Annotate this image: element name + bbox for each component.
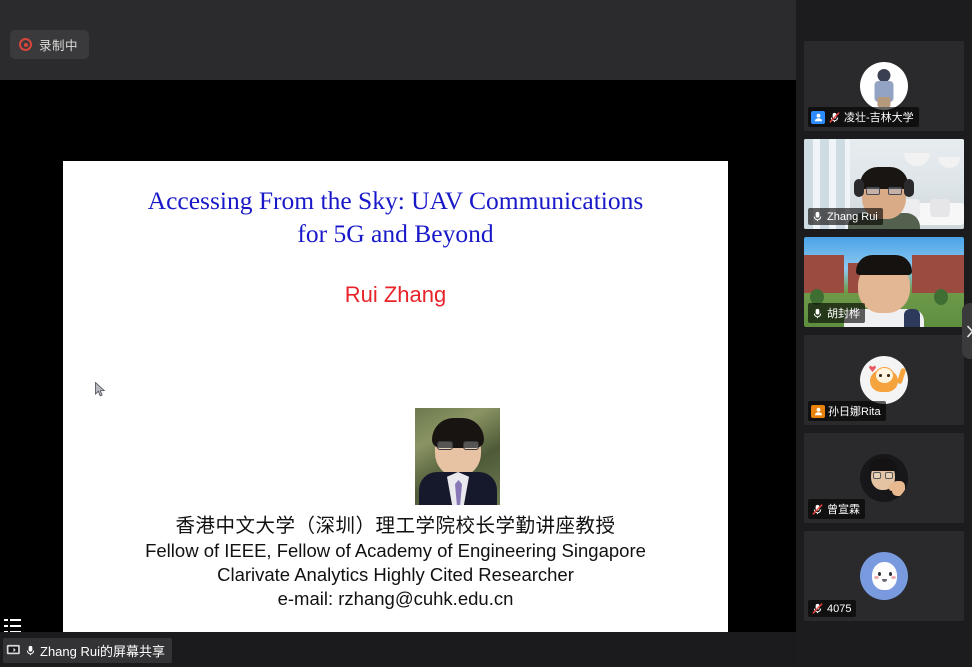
memoji-thumbsup-avatar (860, 454, 908, 502)
screen-share-indicator[interactable]: Zhang Rui的屏幕共享 (3, 638, 172, 663)
participant-filmstrip: 凌壮-吉林大学 Zhang Rui (796, 0, 972, 667)
participant-nameplate: Zhang Rui (808, 208, 883, 225)
participant-tile-1[interactable]: 凌壮-吉林大学 (804, 41, 964, 131)
bottom-status-bar: Zhang Rui的屏幕共享 (0, 632, 796, 667)
participant-tile-6[interactable]: 4075 (804, 531, 964, 621)
participant-name: 4075 (827, 603, 851, 615)
collapse-filmstrip-button[interactable] (962, 303, 972, 359)
participant-nameplate: 曾宣霖 (808, 499, 865, 519)
mic-on-icon (811, 307, 824, 320)
speaker-email: e-mail: rzhang@cuhk.edu.cn (63, 588, 728, 610)
screen-share-label: Zhang Rui的屏幕共享 (40, 641, 165, 660)
mouse-cursor (95, 382, 106, 397)
presentation-slide: Accessing From the Sky: UAV Communicatio… (63, 161, 728, 660)
participant-tile-5[interactable]: 曾宣霖 (804, 433, 964, 523)
participant-tile-2[interactable]: Zhang Rui (804, 139, 964, 229)
affiliation-chinese: 香港中文大学（深圳）理工学院校长学勤讲座教授 (63, 509, 728, 538)
slide-speaker-name: Rui Zhang (63, 282, 728, 308)
mic-on-icon (24, 644, 37, 657)
host-person-icon (811, 111, 825, 124)
person-illustration-avatar (860, 62, 908, 110)
mic-muted-icon (811, 503, 824, 516)
screen-share-icon (6, 644, 21, 657)
slide-title-line-1: Accessing From the Sky: UAV Communicatio… (148, 186, 644, 215)
chevron-right-icon (966, 325, 972, 338)
slide-affiliation-block: 香港中文大学（深圳）理工学院校长学勤讲座教授 Fellow of IEEE, F… (63, 509, 728, 610)
participant-nameplate: 4075 (808, 600, 856, 617)
cat-cartoon-avatar (860, 356, 908, 404)
record-dot-icon (19, 38, 32, 51)
mic-muted-icon (828, 111, 841, 124)
participant-name: 胡封桦 (827, 305, 860, 321)
participant-name: 孙日娜Rita (828, 403, 881, 419)
participant-nameplate: 凌壮-吉林大学 (808, 107, 919, 127)
mic-on-icon (811, 210, 824, 223)
participant-name: 凌壮-吉林大学 (844, 109, 914, 125)
speaker-portrait (415, 408, 500, 505)
cohost-person-icon (811, 405, 825, 418)
slide-title-line-2: for 5G and Beyond (297, 219, 493, 248)
participant-name: 曾宣霖 (827, 501, 860, 517)
top-toolbar-area: 录制中 (0, 0, 796, 80)
participant-nameplate: 胡封桦 (808, 303, 865, 323)
participant-nameplate: 孙日娜Rita (808, 401, 886, 421)
blue-cartoon-avatar (860, 552, 908, 600)
shared-screen-area: Accessing From the Sky: UAV Communicatio… (0, 80, 796, 632)
affiliation-researcher: Clarivate Analytics Highly Cited Researc… (63, 564, 728, 586)
affiliation-fellowships: Fellow of IEEE, Fellow of Academy of Eng… (63, 540, 728, 562)
recording-indicator[interactable]: 录制中 (10, 30, 89, 59)
participant-tile-3[interactable]: 胡封桦 (804, 237, 964, 327)
participant-name: Zhang Rui (827, 211, 878, 223)
zoom-meeting-window: 录制中 Accessing From the Sky: UAV Communic… (0, 0, 972, 667)
recording-label: 录制中 (39, 35, 78, 54)
slide-title: Accessing From the Sky: UAV Communicatio… (103, 185, 688, 250)
mic-muted-icon (811, 602, 824, 615)
participant-tile-4[interactable]: 孙日娜Rita (804, 335, 964, 425)
